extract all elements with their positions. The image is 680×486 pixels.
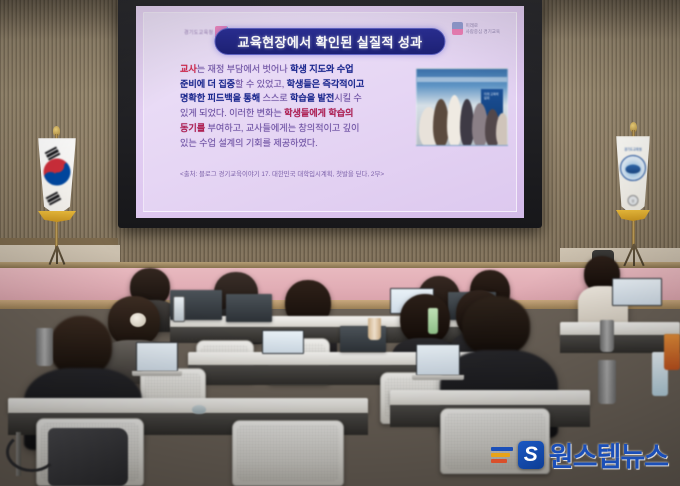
desk-middle-right: [560, 322, 680, 336]
slide-text-run: 학생들은 즉각적이고: [287, 79, 365, 89]
slide-text-run: 할 수 있었고,: [235, 79, 287, 89]
slide-body-line-5: 동기를 부여하고, 교사들에게는 창의적이고 깊이: [180, 121, 402, 136]
projection-screen[interactable]: 경기도교육청 미래로 사람중심 경기교육 교육현장에서 확인된 실질적 성과 교…: [136, 6, 524, 218]
chair-front-row-2: [232, 420, 344, 486]
tripod-leg: [56, 246, 58, 264]
tumbler-mid: [600, 320, 614, 352]
desk-front-right: [390, 390, 590, 406]
slide-body-line-3: 명확한 피드백을 통해 스스로 학습을 발전시킬 수: [180, 91, 402, 106]
slide-title-pill: 교육현장에서 확인된 실질적 성과: [214, 28, 445, 55]
backpack-on-chair: [48, 428, 128, 486]
laptop-back-5: [612, 278, 662, 306]
coffee-cup-mid: [368, 318, 381, 340]
slide-text-run: 동기를: [180, 123, 205, 133]
slide-text-run: 있는 수업 설계의 기회를 제공하였다.: [180, 138, 318, 148]
slide-body-line-1: 교사는 재정 부담에서 벗어나 학생 지도와 수업: [180, 62, 402, 77]
slide-text-run: 학생 지도와 수업: [290, 64, 353, 74]
photo-ceiling-beam: [417, 77, 508, 82]
hair-tie-accessory: [130, 313, 146, 327]
tripod-leg: [633, 244, 644, 267]
korean-national-flag-stand: [28, 128, 88, 263]
person-head: [400, 294, 450, 344]
slide-body-line-4: 있게 되었다. 이러한 변화는 학생들에게 학습의: [180, 106, 402, 121]
monitor-back-2: [226, 294, 272, 322]
flag-fringe: [616, 210, 650, 221]
slide-text-run: 교사: [180, 64, 197, 74]
laptop-base-front-left: [132, 371, 182, 376]
organization-flag-cloth: 경기도교육청 인: [616, 136, 650, 216]
watermark-bar: [491, 459, 507, 463]
slide-logo-left-text: 경기도교육청: [184, 29, 213, 36]
org-flag-seal-icon: 인: [628, 195, 639, 206]
snack-item: [664, 334, 680, 370]
flag-fringe: [38, 211, 76, 222]
slide-logo-right-mark-icon: [452, 22, 463, 35]
slide-body-line-2: 준비에 더 집중할 수 있었고, 학생들은 즉각적이고: [180, 77, 402, 92]
slide-body-text: 교사는 재정 부담에서 벗어나 학생 지도와 수업준비에 더 집중할 수 있었고…: [180, 62, 402, 150]
slide-text-run: 는 재정 부담에서 벗어나: [197, 64, 290, 74]
slide-logo-right: 미래로 사람중심 경기교육: [452, 22, 500, 35]
tripod-leg: [633, 244, 635, 266]
watermark-bar: [491, 453, 510, 457]
org-flag-emblem-text: 경기도교육청: [624, 146, 642, 151]
desk-front-row: [8, 398, 368, 414]
taeguk-circle-icon: [44, 159, 71, 186]
laptop-front-left: [136, 342, 178, 372]
slide-text-run: 스스로: [260, 93, 290, 103]
slide-inset-photo: 미래 교육박람회: [416, 68, 508, 146]
slide-text-run: 학습을 발전: [290, 93, 334, 103]
slide-body-line-6: 있는 수업 설계의 기회를 제공하였다.: [180, 136, 402, 151]
organization-flag-stand: 경기도교육청 인: [608, 124, 666, 264]
laptop-mid-1: [262, 330, 304, 354]
strap-cable: [6, 432, 58, 472]
slide-text-run: 있게 되었다. 이러한 변화는: [180, 108, 284, 118]
watermark-logo: S 원스텝뉴스: [491, 435, 668, 474]
phone-on-desk: [173, 296, 185, 322]
org-flag-emblem-icon: [620, 155, 646, 181]
photo-person: [496, 113, 508, 146]
slide-logo-right-line2: 사람중심 경기교육: [466, 29, 500, 35]
korean-flag-cloth: [38, 138, 76, 216]
slide-text-run: 준비에 더 집중: [180, 79, 235, 89]
laptop-front-right: [416, 344, 460, 376]
watermark-bars-icon: [491, 447, 513, 463]
laptop-base-front-right: [412, 375, 464, 380]
tumbler-front: [36, 328, 53, 366]
mouse-on-desk: [192, 405, 206, 414]
slide-source-note: <출처: 블로그 경기교육이야기 17. 대한민국 대학입시계획, 첫발을 딛다…: [180, 169, 480, 178]
slide-text-run: 명확한 피드백을 통해: [180, 93, 260, 103]
slide-text-run: 학생들에게 학습의: [284, 108, 353, 118]
slide-text-run: 시킬 수: [334, 93, 362, 103]
person-head: [50, 316, 112, 376]
watermark-bar: [491, 447, 513, 451]
tumbler-front-right: [598, 360, 616, 404]
lecture-hall-photo: 경기도교육청 인 경기도교육청 미래로 사람중심 경기교육 교육현장에서 확인된: [0, 0, 680, 486]
water-bottle-mid: [428, 308, 438, 334]
slide-title: 교육현장에서 확인된 실질적 성과: [237, 32, 422, 51]
desk-edge-middle-right: [560, 335, 680, 353]
watermark-brand-text: 원스텝뉴스: [549, 435, 668, 474]
watermark-s-mark-icon: S: [518, 441, 544, 469]
person-head: [462, 296, 530, 356]
slide-text-run: 부여하고, 교사들에게는 창의적이고 깊이: [205, 123, 359, 133]
